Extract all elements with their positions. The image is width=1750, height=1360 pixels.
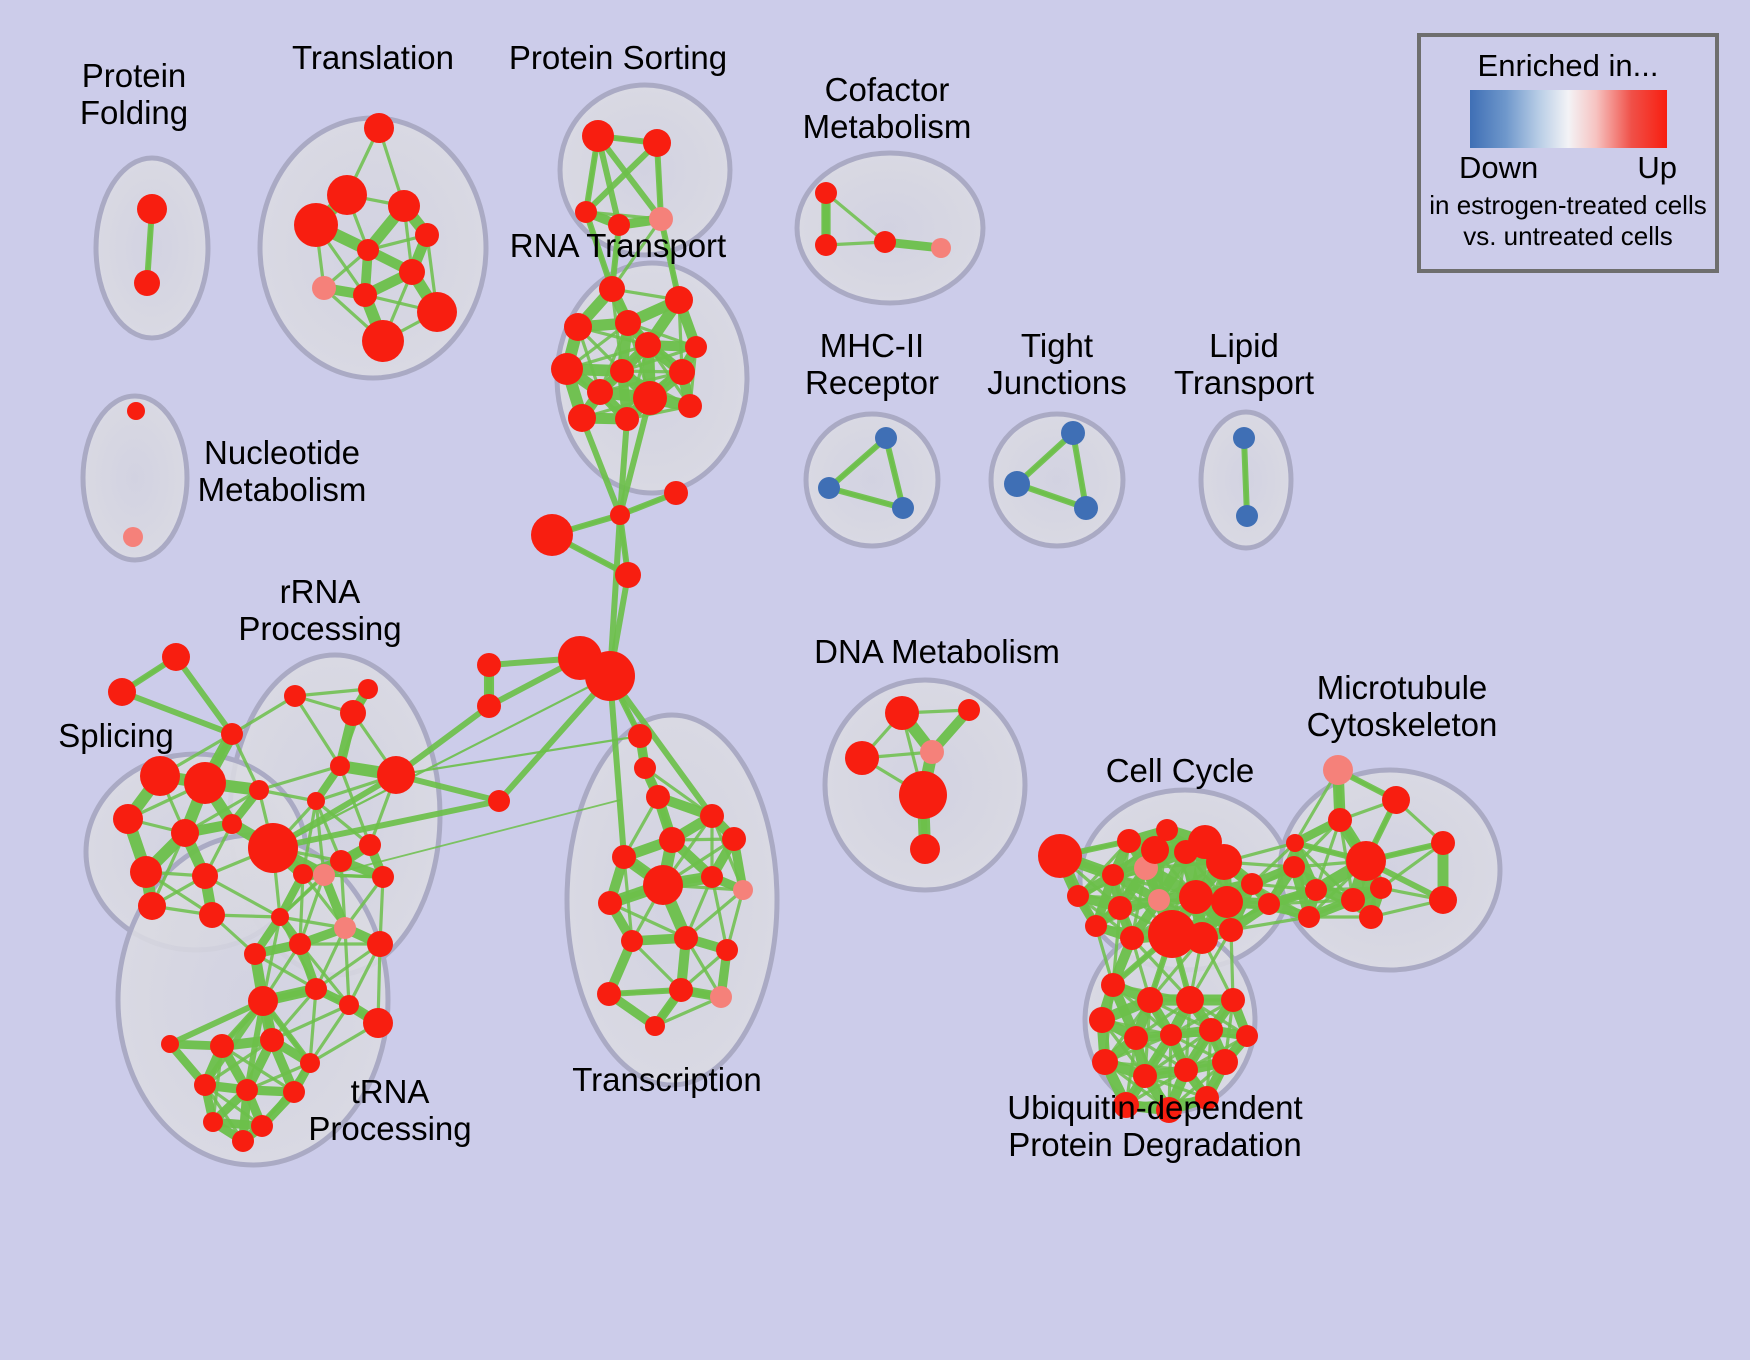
network-node (659, 827, 685, 853)
enrichment-map-figure: Protein FoldingTranslationProtein Sortin… (0, 0, 1750, 1360)
network-node (564, 313, 592, 341)
network-node (203, 1112, 223, 1132)
network-node (678, 394, 702, 418)
network-node (615, 562, 641, 588)
network-node (271, 908, 289, 926)
network-node (634, 757, 656, 779)
network-node (417, 292, 457, 332)
network-node (875, 427, 897, 449)
network-node (1221, 988, 1245, 1012)
network-node (358, 679, 378, 699)
network-node (643, 129, 671, 157)
network-node (633, 381, 667, 415)
network-node (284, 685, 306, 707)
network-node (415, 223, 439, 247)
network-node (222, 814, 242, 834)
network-node (1137, 987, 1163, 1013)
network-node (359, 834, 381, 856)
network-node (130, 856, 162, 888)
legend-high-label: Up (1637, 150, 1677, 186)
network-node (701, 866, 723, 888)
network-node (1141, 836, 1169, 864)
network-node (664, 481, 688, 505)
network-node (184, 762, 226, 804)
network-node (1212, 1049, 1238, 1075)
network-node (307, 792, 325, 810)
network-node (353, 283, 377, 307)
network-node (294, 203, 338, 247)
network-node (138, 892, 166, 920)
network-node (1236, 1025, 1258, 1047)
network-node (615, 407, 639, 431)
network-node (260, 1028, 284, 1052)
network-node (1219, 918, 1243, 942)
network-node (710, 986, 732, 1008)
legend-panel: Enriched in... Down Up in estrogen-treat… (1417, 33, 1719, 273)
network-node (300, 1053, 320, 1073)
network-node (1074, 496, 1098, 520)
network-node (1038, 834, 1082, 878)
network-node (399, 259, 425, 285)
legend-color-bar (1470, 90, 1667, 148)
network-node (1298, 906, 1320, 928)
network-node (293, 864, 313, 884)
network-node (1305, 879, 1327, 901)
network-node (1323, 755, 1353, 785)
network-node (733, 880, 753, 900)
network-node (388, 190, 420, 222)
network-node (134, 270, 160, 296)
network-node (199, 902, 225, 928)
network-node (1148, 889, 1170, 911)
network-node (249, 780, 269, 800)
network-node (610, 359, 634, 383)
network-node (1431, 831, 1455, 855)
legend-caption-line-2: vs. untreated cells (1463, 221, 1673, 252)
network-node (1133, 1064, 1157, 1088)
network-node (628, 724, 652, 748)
network-node (221, 723, 243, 745)
network-node (137, 194, 167, 224)
network-node (283, 1081, 305, 1103)
legend-title: Enriched in... (1478, 48, 1659, 84)
network-node (845, 741, 879, 775)
network-node (649, 207, 673, 231)
network-node (1211, 886, 1243, 918)
network-node (643, 865, 683, 905)
network-node (1089, 1007, 1115, 1033)
network-node (334, 917, 356, 939)
network-node (597, 982, 621, 1006)
network-node (1233, 427, 1255, 449)
network-node (477, 694, 501, 718)
network-node (1199, 1018, 1223, 1042)
network-node (610, 505, 630, 525)
network-node (232, 1130, 254, 1152)
network-node (885, 696, 919, 730)
network-node (815, 234, 837, 256)
network-node (1283, 856, 1305, 878)
network-node (575, 201, 597, 223)
network-node (635, 332, 661, 358)
network-node (598, 891, 622, 915)
network-node (551, 353, 583, 385)
network-node (1195, 1086, 1219, 1110)
network-node (1382, 786, 1410, 814)
network-node (587, 379, 613, 405)
network-node (1341, 888, 1365, 912)
network-node (1113, 1092, 1139, 1118)
network-node (313, 864, 335, 886)
network-node (162, 643, 190, 671)
network-node (568, 404, 596, 432)
network-node (248, 823, 298, 873)
network-node (340, 700, 366, 726)
network-node (108, 678, 136, 706)
legend-endpoints: Down Up (1459, 150, 1677, 186)
network-node (931, 238, 951, 258)
network-node (1174, 1058, 1198, 1082)
network-node (123, 527, 143, 547)
network-node (377, 756, 415, 794)
network-node (1101, 973, 1125, 997)
network-node (488, 790, 510, 812)
network-node (1328, 808, 1352, 832)
network-node (1176, 986, 1204, 1014)
network-node (722, 827, 746, 851)
network-node (236, 1079, 258, 1101)
network-edge (1244, 438, 1247, 516)
network-node (192, 863, 218, 889)
network-node (585, 651, 635, 701)
network-node (251, 1115, 273, 1137)
network-node (330, 756, 350, 776)
network-node (1156, 1097, 1182, 1123)
network-node (1370, 877, 1392, 899)
network-node (818, 477, 840, 499)
network-node (958, 699, 980, 721)
network-node (645, 1016, 665, 1036)
network-node (1117, 829, 1141, 853)
network-node (161, 1035, 179, 1053)
network-node (1429, 886, 1457, 914)
network-node (210, 1034, 234, 1058)
network-node (669, 978, 693, 1002)
network-node (899, 771, 947, 819)
network-node (599, 276, 625, 302)
network-node (1186, 922, 1218, 954)
network-node (669, 359, 695, 385)
network-node (140, 756, 180, 796)
network-node (372, 866, 394, 888)
network-node (910, 834, 940, 864)
network-node (1359, 905, 1383, 929)
network-node (357, 239, 379, 261)
network-node (1085, 915, 1107, 937)
network-node (1124, 1026, 1148, 1050)
network-node (305, 978, 327, 1000)
network-node (194, 1074, 216, 1096)
network-node (1258, 893, 1280, 915)
network-node (1236, 505, 1258, 527)
network-node (312, 276, 336, 300)
network-node (531, 514, 573, 556)
network-node (674, 926, 698, 950)
network-node (1241, 873, 1263, 895)
network-node (920, 740, 944, 764)
network-node (1092, 1049, 1118, 1075)
network-node (1108, 896, 1132, 920)
network-node (248, 986, 278, 1016)
network-node (685, 336, 707, 358)
network-node (716, 939, 738, 961)
network-node (477, 653, 501, 677)
network-node (127, 402, 145, 420)
network-node (582, 120, 614, 152)
network-node (289, 933, 311, 955)
network-node (1067, 885, 1089, 907)
network-node (339, 995, 359, 1015)
network-node (665, 286, 693, 314)
cluster-hulls (83, 85, 1500, 1165)
network-node (1160, 1024, 1182, 1046)
network-node (646, 785, 670, 809)
network-node (700, 804, 724, 828)
network-node (1286, 834, 1304, 852)
network-node (1061, 421, 1085, 445)
network-node (608, 214, 630, 236)
network-node (171, 819, 199, 847)
network-node (330, 850, 352, 872)
network-node (1346, 841, 1386, 881)
cluster-hull-protein-sorting (560, 85, 730, 255)
network-node (244, 943, 266, 965)
network-node (615, 310, 641, 336)
network-node (364, 113, 394, 143)
network-node (1004, 471, 1030, 497)
network-node (1120, 926, 1144, 950)
network-node (327, 175, 367, 215)
network-node (892, 497, 914, 519)
network-node (363, 1008, 393, 1038)
network-node (1179, 880, 1213, 914)
legend-caption-line-1: in estrogen-treated cells (1429, 190, 1706, 221)
network-node (815, 182, 837, 204)
network-node (367, 931, 393, 957)
network-node (362, 320, 404, 362)
network-node (612, 845, 636, 869)
network-node (1102, 864, 1124, 886)
network-node (113, 804, 143, 834)
network-node (874, 231, 896, 253)
legend-low-label: Down (1459, 150, 1538, 186)
network-node (621, 930, 643, 952)
network-node (1206, 844, 1242, 880)
